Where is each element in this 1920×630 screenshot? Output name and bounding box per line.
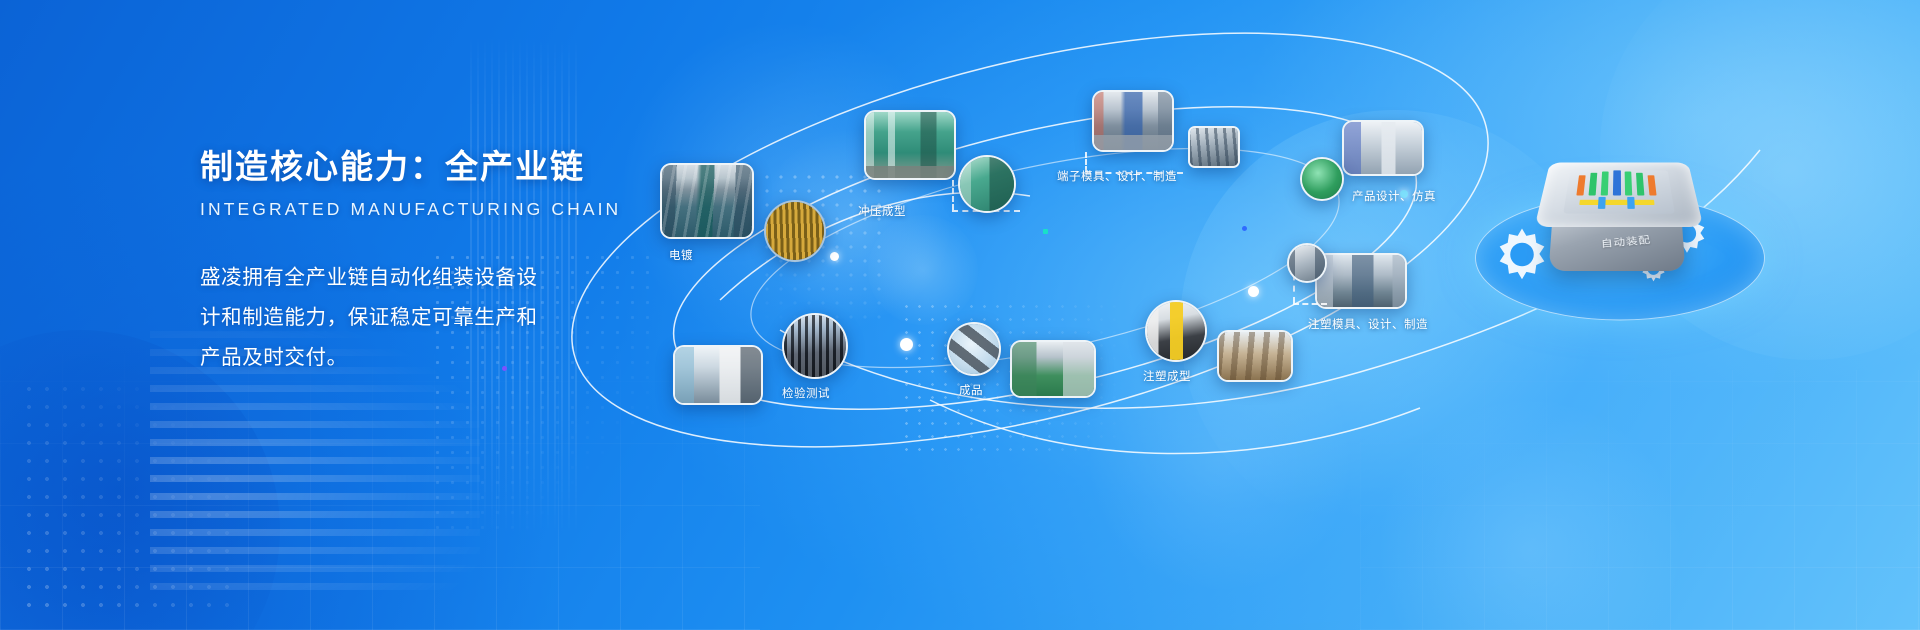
description-line-3: 产品及时交付。 <box>200 338 580 378</box>
machine-part <box>1613 170 1621 195</box>
orbit-dot-1 <box>900 338 913 351</box>
machine-part <box>1648 175 1657 195</box>
node-terminal-mold-thumbnail[interactable] <box>1092 90 1174 152</box>
manufacturing-chain-diagram: 自动装配 电镀 冲压成型 <box>600 0 1920 630</box>
photo-detail <box>675 347 761 403</box>
machine-part <box>1576 175 1585 195</box>
node-terminal-mold[interactable]: 端子模具、设计、制造 <box>1092 90 1174 152</box>
node-injection-mold-thumbnail[interactable] <box>1315 253 1407 309</box>
machine-part <box>1579 200 1654 205</box>
photo-table <box>1094 92 1172 150</box>
photo-gold-connector <box>766 202 824 260</box>
photo-detail <box>1147 302 1205 360</box>
orbit-dot-4 <box>830 252 839 261</box>
node-cad-model <box>1300 157 1344 201</box>
packaging-thumbnail <box>1217 330 1293 382</box>
lab-thumbnail <box>673 345 763 405</box>
node-terminal-mold-label: 端子模具、设计、制造 <box>1057 168 1177 184</box>
photo-detail <box>1190 128 1238 166</box>
node-injection-molding[interactable]: 注塑成型 <box>1145 300 1207 362</box>
photo-detail <box>960 157 1014 211</box>
machine-part <box>1627 197 1635 209</box>
node-injection-molding-label: 注塑成型 <box>1143 368 1191 384</box>
node-finished-goods-thumbnail[interactable] <box>947 322 1001 376</box>
photo-detail <box>1344 122 1422 174</box>
cad-model-thumbnail <box>1300 157 1344 201</box>
node-stamping-label: 冲压成型 <box>858 203 906 219</box>
stamping-detail-thumbnail <box>958 155 1016 213</box>
node-packaging-photo <box>1217 330 1293 382</box>
photo-detail <box>1219 332 1291 380</box>
node-injection-mold-label: 注塑模具、设计、制造 <box>1308 316 1428 332</box>
node-injection-molding-thumbnail[interactable] <box>1145 300 1207 362</box>
orbit-dot-3 <box>1248 286 1259 297</box>
banner-stage: 制造核心能力：全产业链 INTEGRATED MANUFACTURING CHA… <box>0 0 1920 630</box>
node-stamping[interactable]: 冲压成型 <box>864 110 956 180</box>
machine-interior <box>1563 170 1675 213</box>
node-injection-mold[interactable]: 注塑模具、设计、制造 <box>1315 253 1407 309</box>
node-connector-sample <box>764 200 826 262</box>
assembly-line-thumbnail <box>1010 340 1096 398</box>
connector-thumbnail <box>764 200 826 262</box>
accent-square-3 <box>1242 226 1247 231</box>
automation-hub: 自动装配 <box>1475 196 1765 321</box>
node-mold-block <box>1188 126 1240 168</box>
photo-floor <box>866 112 954 178</box>
machine-part <box>1598 197 1606 209</box>
connector-stamping-v <box>952 180 954 210</box>
accent-square-4 <box>502 366 507 371</box>
photo-cad-model <box>1302 159 1342 199</box>
node-plating-label: 电镀 <box>669 247 693 263</box>
machine-part <box>1589 173 1598 196</box>
machine-part <box>1625 172 1633 196</box>
node-product-design[interactable]: 产品设计、仿真 <box>1342 120 1424 176</box>
node-inspection-test-label: 检验测试 <box>782 385 830 401</box>
node-inspection-test[interactable]: 检验测试 <box>782 313 848 379</box>
description-line-2: 计和制造能力，保证稳定可靠生产和 <box>200 298 580 338</box>
node-plating[interactable]: 电镀 <box>660 163 754 239</box>
photo-detail <box>1289 245 1325 281</box>
photo-detail <box>1317 255 1405 307</box>
node-product-design-thumbnail[interactable] <box>1342 120 1424 176</box>
node-mold-tool <box>1287 243 1327 283</box>
page-subtitle: INTEGRATED MANUFACTURING CHAIN <box>200 199 580 220</box>
photo-detail <box>949 324 999 374</box>
node-stamping-detail <box>958 155 1016 213</box>
connector-injection-mold-h <box>1293 303 1327 305</box>
assembly-machine-3d: 自动装配 <box>1537 148 1705 278</box>
photo-highlights <box>662 165 752 237</box>
photo-detail <box>1012 342 1094 396</box>
node-plating-thumbnail[interactable] <box>660 163 754 239</box>
node-stamping-thumbnail[interactable] <box>864 110 956 180</box>
accent-square-2 <box>1043 229 1048 234</box>
description-line-1: 盛凌拥有全产业链自动化组装设备设 <box>200 258 580 298</box>
node-inspection-test-thumbnail[interactable] <box>782 313 848 379</box>
node-assembly-line-photo <box>1010 340 1096 398</box>
machine-part <box>1601 172 1609 196</box>
banner-copy: 制造核心能力：全产业链 INTEGRATED MANUFACTURING CHA… <box>200 140 580 378</box>
node-finished-goods-label: 成品 <box>959 382 983 398</box>
page-title: 制造核心能力：全产业链 <box>200 140 580 188</box>
machine-part <box>1636 173 1644 196</box>
node-product-design-label: 产品设计、仿真 <box>1352 188 1436 204</box>
photo-detail <box>784 315 846 377</box>
node-finished-goods[interactable]: 成品 <box>947 322 1001 376</box>
mold-tool-thumbnail <box>1287 243 1327 283</box>
banner-description: 盛凌拥有全产业链自动化组装设备设 计和制造能力，保证稳定可靠生产和 产品及时交付… <box>200 258 580 378</box>
mold-block-thumbnail <box>1188 126 1240 168</box>
node-lab-photo <box>673 345 763 405</box>
